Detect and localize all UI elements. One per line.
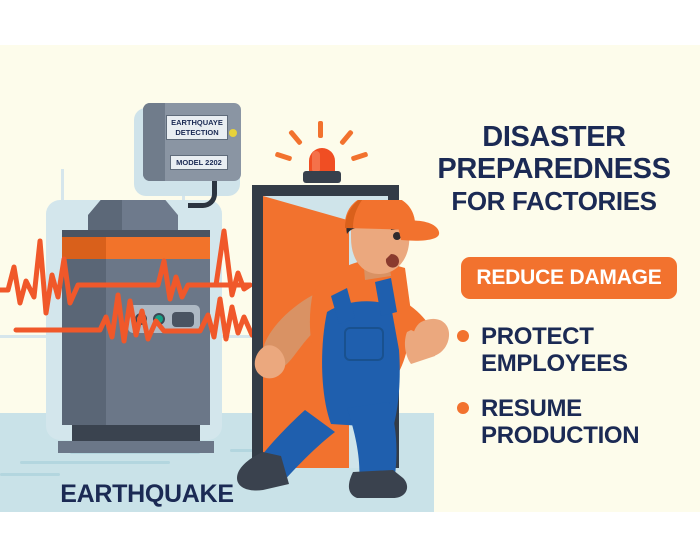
wall-device-label-top: EARTHQUAYE DETECTION — [166, 115, 228, 140]
worker-boot-front — [349, 470, 407, 498]
siren-ray-left-lower — [275, 151, 293, 161]
machine-body-shade — [62, 230, 106, 425]
reduce-damage-badge-label: REDUCE DAMAGE — [476, 266, 661, 290]
siren-ray-right-lower — [351, 151, 369, 161]
worker-overalls-pocket — [345, 328, 383, 360]
sensor-caption: EARTHQUAKE DETECTION SENSOR — [14, 480, 280, 512]
benefit-label-1: PROTECT EMPLOYEES — [481, 323, 697, 377]
wall-device-label-model: MODEL 2202 — [170, 155, 228, 170]
bullet-dot-icon — [457, 330, 469, 342]
bullet-dot-icon — [457, 402, 469, 414]
reduce-damage-badge[interactable]: REDUCE DAMAGE — [461, 257, 677, 299]
floor-motion-line-1 — [20, 461, 170, 464]
page-title: DISASTER PREPAREDNESS FOR FACTORIES — [418, 121, 690, 217]
wall-device-indicator-icon — [229, 129, 237, 137]
machine-led-orange — [135, 313, 147, 325]
list-item: PROTECT EMPLOYEES — [457, 323, 697, 377]
page-title-line1: DISASTER — [418, 121, 690, 153]
poster-canvas: EARTHQUAYE DETECTION MODEL 2202 — [0, 45, 700, 512]
worker-illustration — [235, 200, 450, 500]
sensor-caption-line2: DETECTION SENSOR — [14, 509, 280, 512]
machine-led-teal — [153, 313, 165, 325]
machine-display-screen — [172, 312, 194, 327]
page-title-line3: FOR FACTORIES — [418, 185, 690, 217]
benefit-label-2: RESUME PRODUCTION — [481, 395, 697, 449]
machine-base-plate — [58, 441, 214, 453]
poster-root: EARTHQUAYE DETECTION MODEL 2202 — [0, 0, 700, 560]
page-title-line2: PREPAREDNESS — [418, 153, 690, 185]
worker-cap-brim — [397, 220, 439, 240]
list-item: RESUME PRODUCTION — [457, 395, 697, 449]
machine-orange-stripe-shade — [62, 237, 106, 259]
siren-ray-center — [318, 121, 323, 138]
worker-hand-front — [413, 319, 449, 357]
siren-ray-right-upper — [339, 129, 354, 145]
siren-ray-left-upper — [288, 129, 303, 145]
siren-base — [303, 171, 341, 183]
sensor-caption-line1: EARTHQUAKE — [14, 480, 280, 509]
machine-base-dark — [72, 425, 200, 441]
siren-dome-highlight — [312, 151, 320, 171]
wall-device-body-shade — [143, 103, 165, 181]
wall-device-cable — [188, 181, 217, 208]
benefits-list: PROTECT EMPLOYEES RESUME PRODUCTION — [457, 323, 697, 467]
floor-motion-line-3 — [0, 473, 60, 476]
